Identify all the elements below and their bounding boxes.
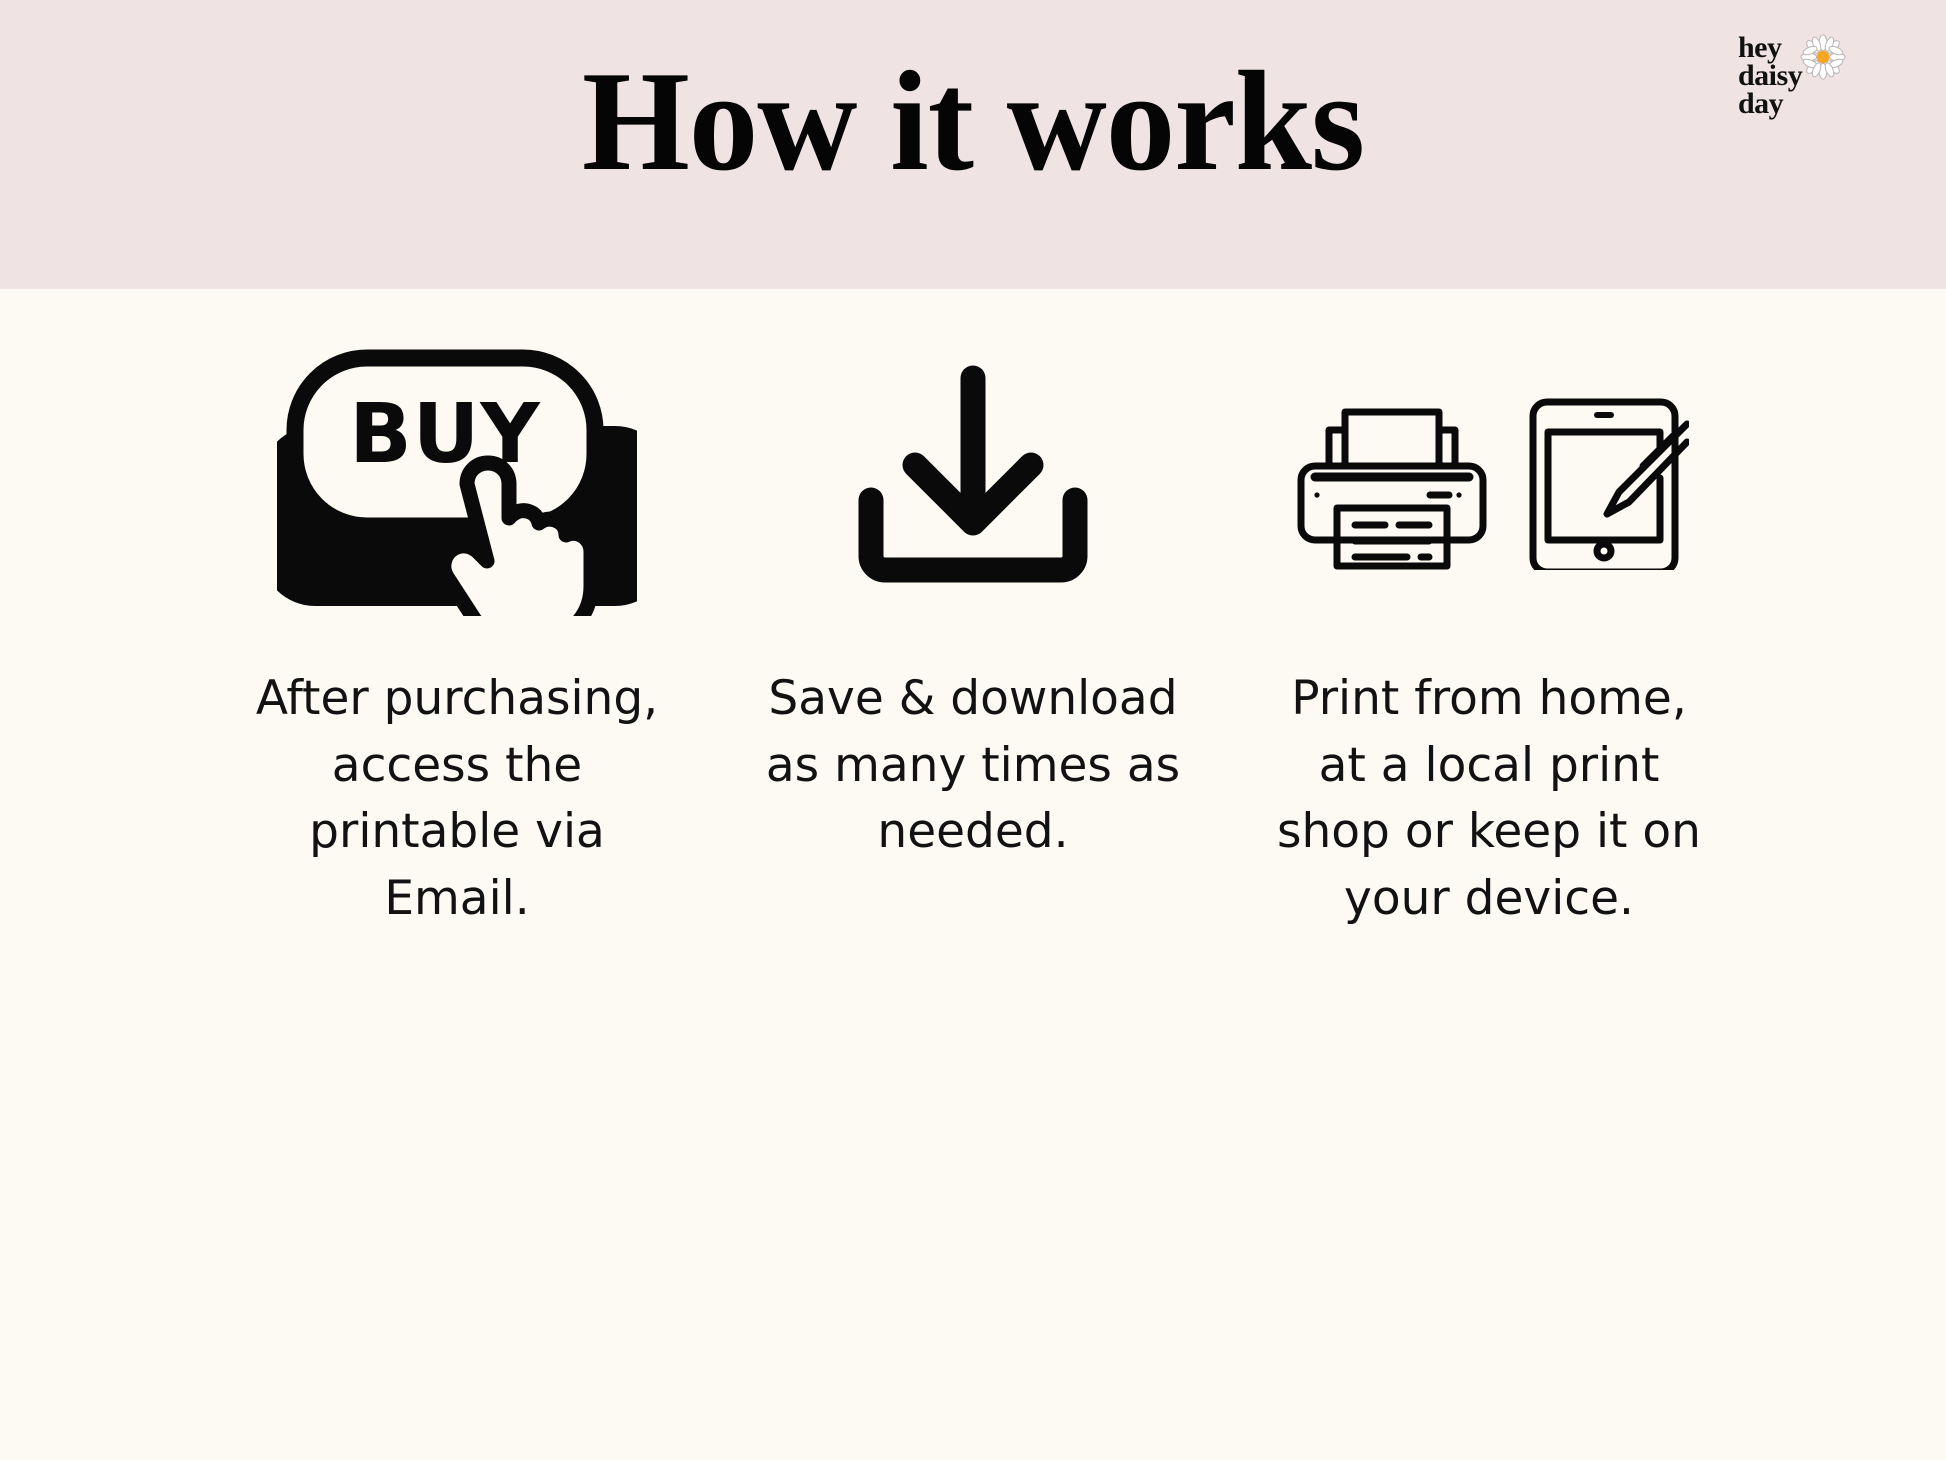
how-it-works-graphic: How it works hey daisy day [0,0,1946,1460]
step-3: Print from home, at a local print shop o… [1259,330,1719,933]
page-title: How it works [29,50,1917,193]
step-3-icon-slot [1289,330,1689,630]
brand-line-1: hey [1738,34,1802,62]
step-3-caption: Print from home, at a local print shop o… [1269,666,1709,933]
step-1: BUY After purchasing, access the printab… [227,330,687,933]
daisy-icon [1800,34,1846,80]
steps-row: BUY After purchasing, access the printab… [0,330,1946,933]
tablet-pencil-icon [1533,402,1687,570]
step-2: Save & download as many times as needed. [743,330,1203,866]
printer-and-tablet-icon [1289,390,1689,570]
printer-icon [1301,412,1483,566]
step-1-caption: After purchasing, access the printable v… [247,666,667,933]
brand-wordmark: hey daisy day [1738,34,1802,118]
buy-button-click-icon: BUY [277,344,637,616]
step-2-icon-slot [853,330,1093,630]
brand-logo: hey daisy day [1738,30,1888,140]
step-2-caption: Save & download as many times as needed. [763,666,1183,866]
brand-line-2: daisy [1738,62,1802,90]
brand-line-3: day [1738,90,1802,118]
step-1-icon-slot: BUY [277,330,637,630]
download-icon [853,360,1093,600]
buy-label: BUY [349,387,541,482]
header-band: How it works hey daisy day [0,0,1946,289]
